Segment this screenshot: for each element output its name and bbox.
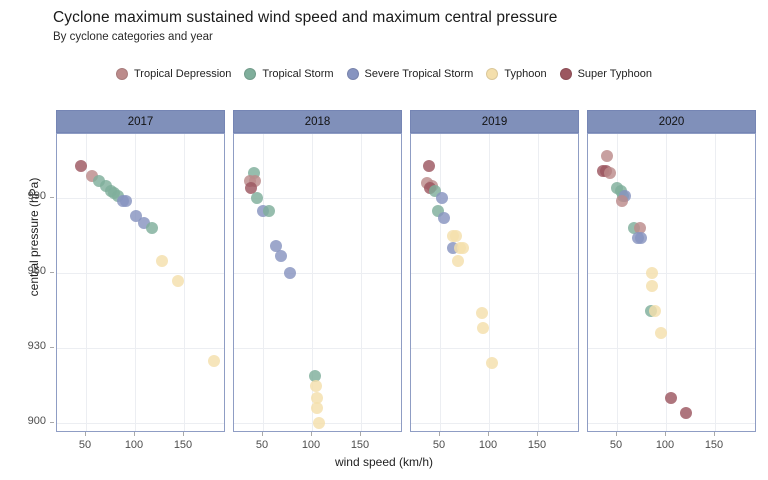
y-gridline — [588, 198, 755, 199]
facet-strip: 2018 — [233, 110, 402, 133]
y-axis-title: central pressure (hPa) — [27, 107, 41, 367]
x-gridline — [666, 134, 667, 431]
facet-strip-label: 2017 — [128, 116, 154, 128]
legend-key-icon — [486, 68, 498, 80]
x-axis-tick-mark — [537, 432, 538, 436]
data-point — [284, 267, 296, 279]
y-gridline — [57, 273, 224, 274]
data-point — [311, 402, 323, 414]
facet-panel-2017: 2017 — [56, 110, 225, 432]
x-axis-tick-mark — [360, 432, 361, 436]
facet-strip: 2020 — [587, 110, 756, 133]
data-point — [646, 280, 658, 292]
x-axis-tick-mark — [488, 432, 489, 436]
data-point — [120, 195, 132, 207]
data-point — [649, 305, 661, 317]
chart-subtitle: By cyclone categories and year — [53, 31, 213, 43]
data-point — [438, 212, 450, 224]
y-axis-tick-mark — [50, 347, 54, 348]
y-gridline — [588, 273, 755, 274]
y-gridline — [411, 273, 578, 274]
y-gridline — [411, 348, 578, 349]
facet-strip-label: 2020 — [659, 116, 685, 128]
data-point — [208, 355, 220, 367]
y-axis-tick-mark — [50, 272, 54, 273]
legend-key-icon — [347, 68, 359, 80]
x-axis-tick-label: 150 — [340, 439, 380, 451]
data-point — [477, 322, 489, 334]
y-axis-tick-mark — [50, 197, 54, 198]
data-point — [251, 192, 263, 204]
x-gridline — [184, 134, 185, 431]
y-gridline — [588, 423, 755, 424]
x-axis-tick-label: 100 — [114, 439, 154, 451]
y-gridline — [234, 273, 401, 274]
legend-item-label: Typhoon — [504, 68, 546, 80]
data-point — [310, 380, 322, 392]
x-axis-tick-label: 50 — [419, 439, 459, 451]
data-point — [616, 195, 628, 207]
plot-area — [56, 133, 225, 432]
chart-title: Cyclone maximum sustained wind speed and… — [53, 9, 557, 27]
y-gridline — [57, 423, 224, 424]
data-point — [436, 192, 448, 204]
data-point — [275, 250, 287, 262]
x-axis-tick-mark — [311, 432, 312, 436]
x-gridline — [538, 134, 539, 431]
legend-item[interactable]: Typhoon — [486, 68, 546, 80]
x-axis-tick-label: 50 — [65, 439, 105, 451]
x-axis-tick-label: 100 — [645, 439, 685, 451]
legend-item[interactable]: Tropical Storm — [244, 68, 333, 80]
facet-panel-2019: 2019 — [410, 110, 579, 432]
x-axis-tick-mark — [616, 432, 617, 436]
data-point — [313, 417, 325, 429]
legend-item-label: Tropical Storm — [262, 68, 333, 80]
y-axis-tick-label: 990 — [0, 190, 46, 202]
y-axis-tick-label: 900 — [0, 415, 46, 427]
y-gridline — [234, 348, 401, 349]
x-axis-tick-label: 50 — [242, 439, 282, 451]
y-gridline — [411, 423, 578, 424]
data-point — [601, 150, 613, 162]
legend-item[interactable]: Tropical Depression — [116, 68, 231, 80]
legend-item-label: Severe Tropical Storm — [365, 68, 474, 80]
x-axis-tick-mark — [183, 432, 184, 436]
data-point — [172, 275, 184, 287]
data-point — [635, 232, 647, 244]
facet-panel-2020: 2020 — [587, 110, 756, 432]
y-gridline — [57, 348, 224, 349]
data-point — [486, 357, 498, 369]
x-axis-tick-mark — [85, 432, 86, 436]
facet-strip-label: 2018 — [305, 116, 331, 128]
data-point — [263, 205, 275, 217]
data-point — [75, 160, 87, 172]
facet-panel-2018: 2018 — [233, 110, 402, 432]
x-axis-tick-mark — [134, 432, 135, 436]
x-axis-tick-label: 150 — [517, 439, 557, 451]
x-gridline — [135, 134, 136, 431]
facet-strip-label: 2019 — [482, 116, 508, 128]
x-axis-tick-mark — [714, 432, 715, 436]
chart-legend: Tropical DepressionTropical StormSevere … — [0, 63, 768, 85]
x-axis-tick-mark — [262, 432, 263, 436]
x-axis-title: wind speed (km/h) — [0, 455, 768, 469]
x-gridline — [715, 134, 716, 431]
data-point — [457, 242, 469, 254]
y-gridline — [57, 198, 224, 199]
data-point — [680, 407, 692, 419]
x-gridline — [361, 134, 362, 431]
data-point — [452, 255, 464, 267]
x-axis-tick-label: 150 — [163, 439, 203, 451]
legend-item-label: Super Typhoon — [578, 68, 652, 80]
x-axis-tick-label: 100 — [291, 439, 331, 451]
data-point — [450, 230, 462, 242]
data-point — [423, 160, 435, 172]
x-axis-tick-label: 50 — [596, 439, 636, 451]
data-point — [665, 392, 677, 404]
x-axis-tick-label: 150 — [694, 439, 734, 451]
data-point — [146, 222, 158, 234]
y-axis-tick-label: 930 — [0, 340, 46, 352]
x-axis-tick-mark — [665, 432, 666, 436]
legend-item[interactable]: Super Typhoon — [560, 68, 652, 80]
data-point — [655, 327, 667, 339]
x-axis-tick-label: 100 — [468, 439, 508, 451]
x-gridline — [617, 134, 618, 431]
y-axis-tick-label: 960 — [0, 265, 46, 277]
x-gridline — [440, 134, 441, 431]
data-point — [604, 167, 616, 179]
x-gridline — [263, 134, 264, 431]
plot-area — [410, 133, 579, 432]
facet-strip: 2017 — [56, 110, 225, 133]
y-axis-tick-mark — [50, 422, 54, 423]
plot-area — [233, 133, 402, 432]
x-gridline — [489, 134, 490, 431]
plot-area — [587, 133, 756, 432]
legend-key-icon — [116, 68, 128, 80]
x-axis-tick-mark — [439, 432, 440, 436]
legend-key-icon — [560, 68, 572, 80]
data-point — [476, 307, 488, 319]
y-gridline — [588, 348, 755, 349]
data-point — [156, 255, 168, 267]
legend-item-label: Tropical Depression — [134, 68, 231, 80]
legend-key-icon — [244, 68, 256, 80]
chart-root: Cyclone maximum sustained wind speed and… — [0, 0, 768, 480]
legend-item[interactable]: Severe Tropical Storm — [347, 68, 474, 80]
facet-strip: 2019 — [410, 110, 579, 133]
data-point — [646, 267, 658, 279]
